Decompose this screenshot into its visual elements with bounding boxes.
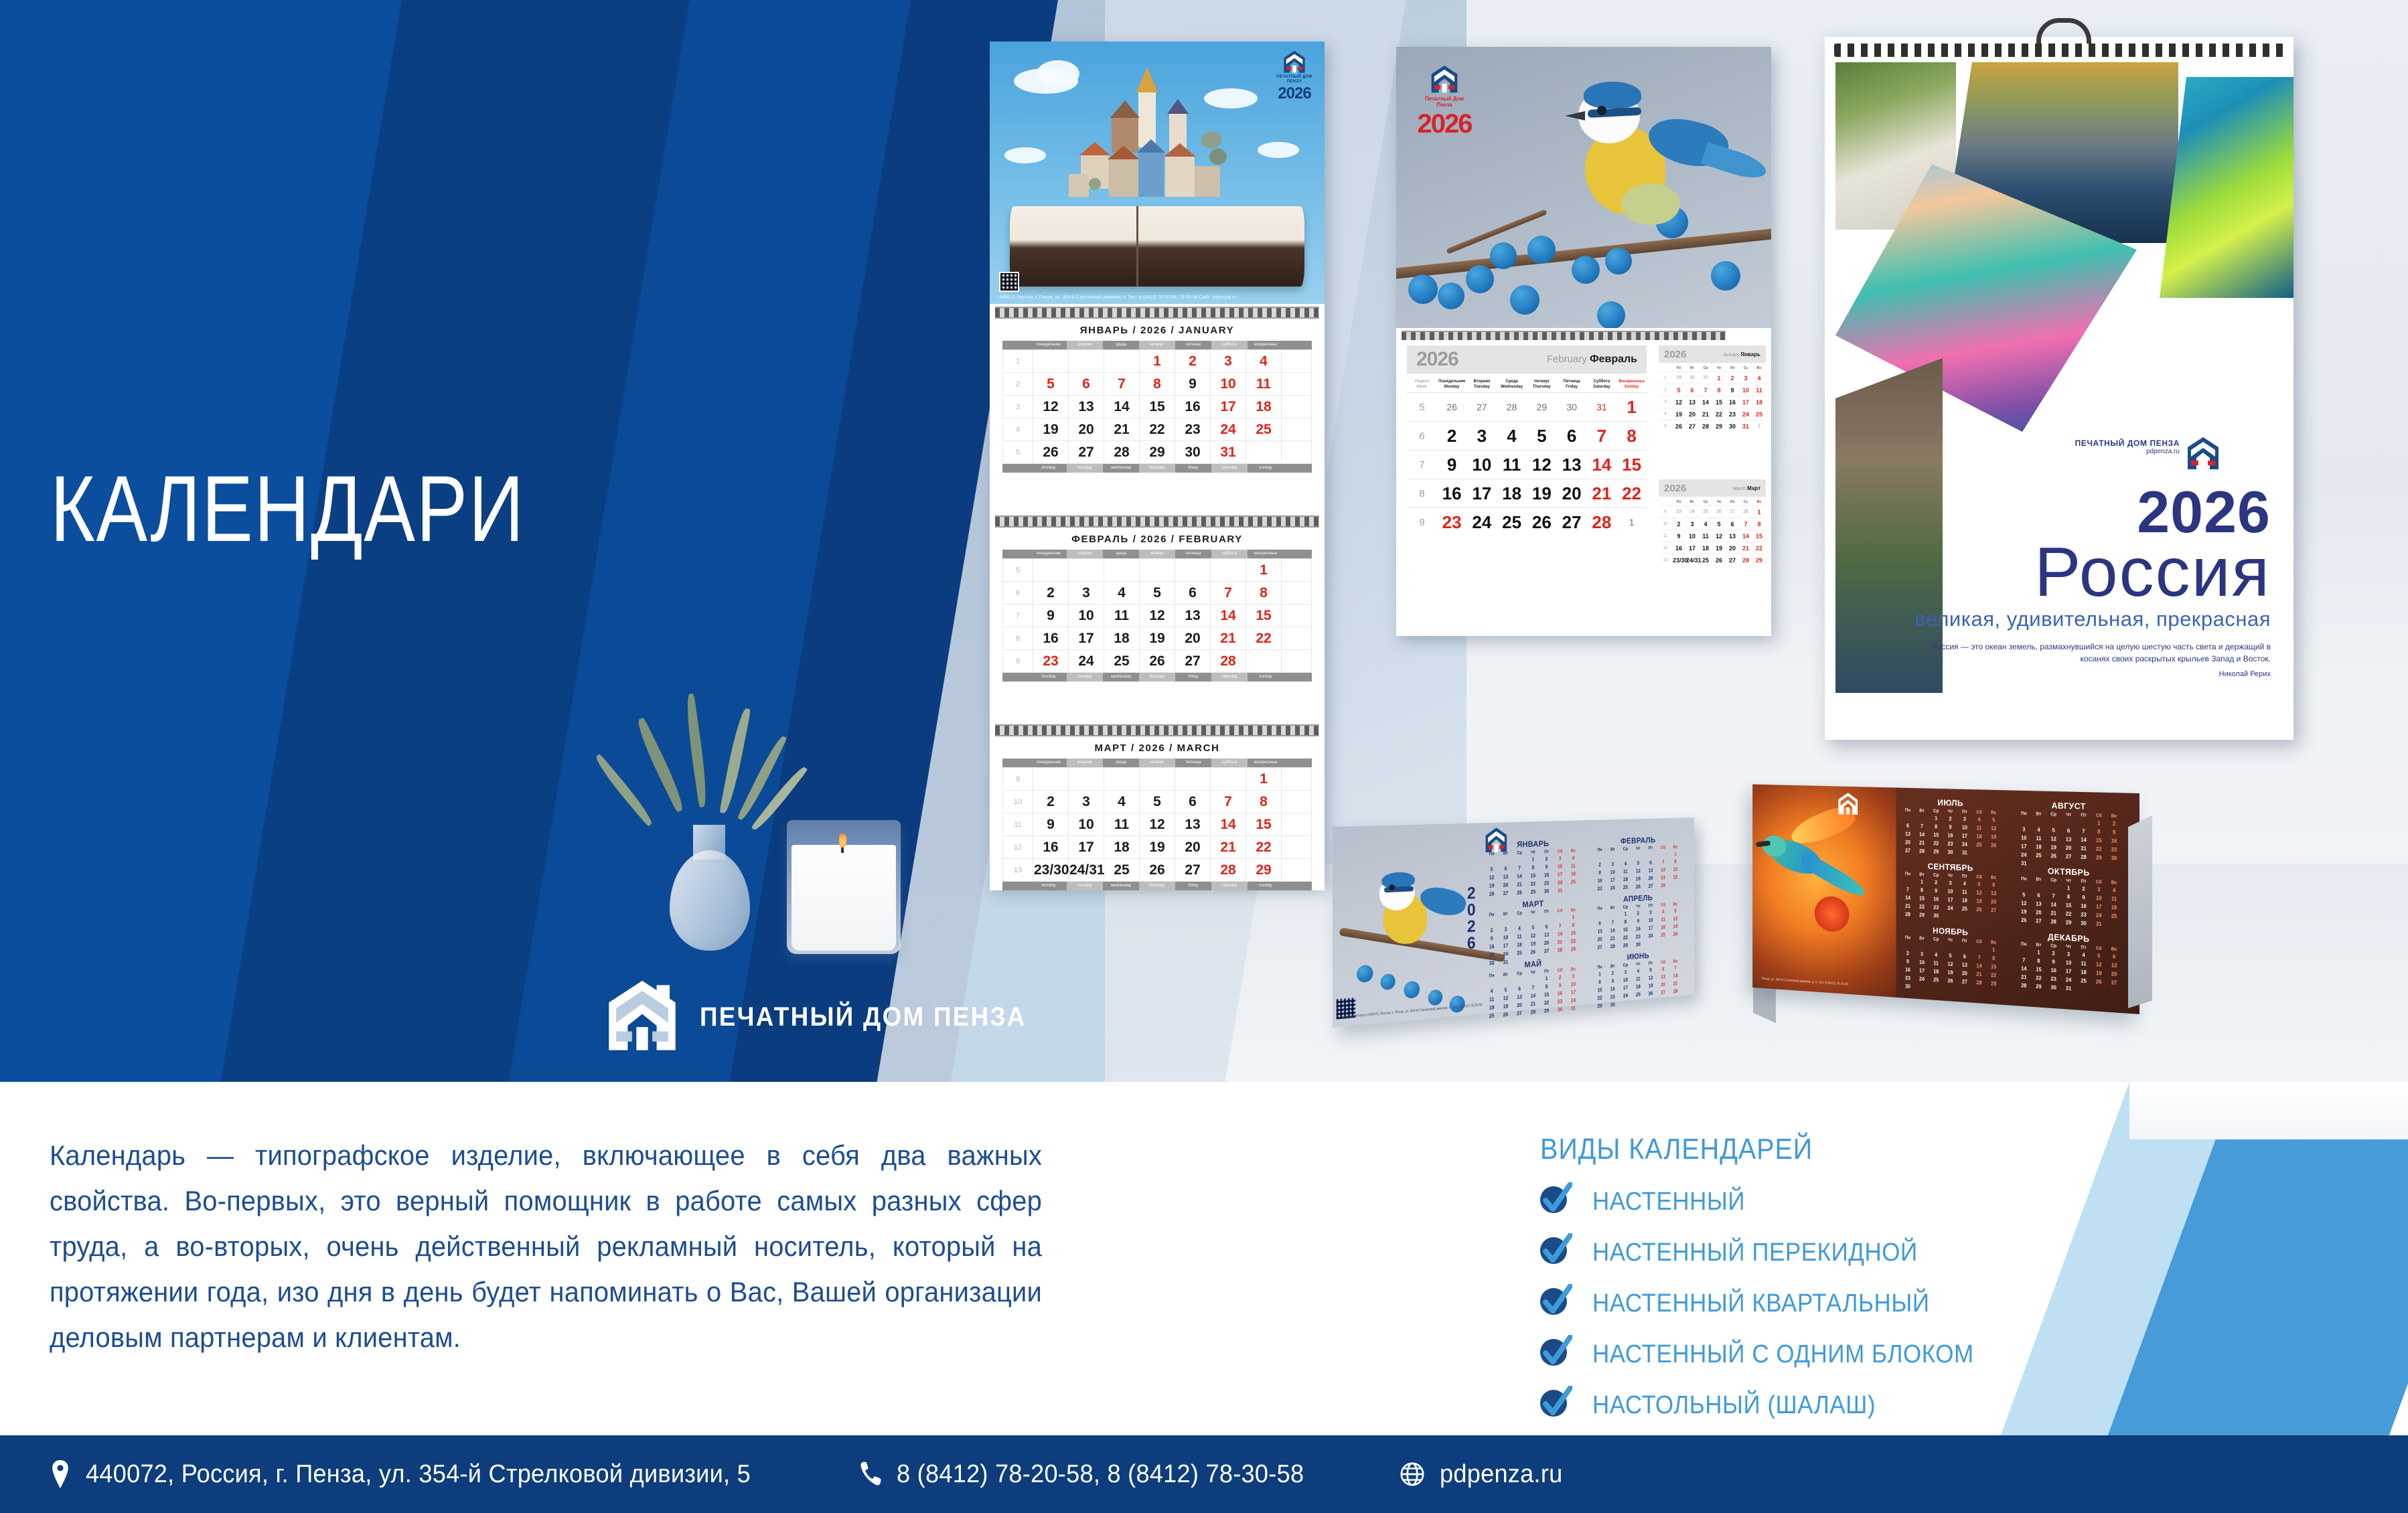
day-cell	[1104, 350, 1140, 373]
company-logo-icon	[1837, 793, 1866, 816]
day-cell: 9	[1033, 605, 1069, 627]
day-cell: 20	[1175, 836, 1211, 859]
day-cell: 27	[1175, 650, 1211, 673]
day-cell: 17	[1943, 895, 1957, 904]
kind-item-label: НАСТЕННЫЙ С ОДНИМ БЛОКОМ	[1592, 1340, 1974, 1369]
day-cell: 11	[1699, 530, 1712, 542]
day-cell: 25	[1619, 883, 1632, 892]
day-cell: 30	[2076, 919, 2091, 928]
table-row: 91	[1003, 768, 1312, 791]
day-cell: 1	[2061, 884, 2076, 893]
day-cell: 20	[1557, 479, 1587, 508]
dow-cell: суббота	[1211, 341, 1248, 349]
day-cell: 8	[1669, 858, 1681, 866]
day-cell: 23	[1929, 903, 1943, 912]
desk-month-table: ПнВтСрЧтПтСбВс12345678910111213141516171…	[1485, 848, 1580, 898]
day-cell: 9	[1672, 530, 1685, 542]
day-cell: 29	[1527, 393, 1557, 422]
russia-brand-site: pdpenza.ru	[2075, 448, 2180, 455]
day-cell: 27	[1499, 889, 1513, 898]
desk-year-digit: 2	[1464, 917, 1479, 935]
day-cell: 10	[1211, 373, 1246, 396]
day-cell: 1	[1915, 878, 1929, 886]
day-cell: 10	[2016, 833, 2031, 842]
day-cell: 1	[1246, 559, 1282, 582]
table-row: 12930311234	[1659, 372, 1766, 384]
mini-month-january: 2026January ЯнварьПоВтСрЧеПяСуВо12930311…	[1659, 345, 1766, 432]
mini-month-name: March Март	[1733, 485, 1760, 491]
desk-month-name: АВГУСТ	[2016, 799, 2121, 812]
day-cell: 2	[1943, 815, 1957, 823]
day-cell: 9	[2107, 827, 2122, 837]
week-number: 7	[1407, 451, 1437, 479]
day-cell: 14	[1915, 830, 1929, 839]
day-cell: 27	[1175, 859, 1211, 882]
day-cell: 22	[1929, 839, 1943, 848]
day-cell: 17	[1069, 627, 1104, 650]
photo-tile-ice-cave	[2160, 77, 2293, 298]
day-cell: 19	[1632, 875, 1645, 884]
day-cell: 28	[1657, 881, 1669, 890]
day-cell: 15	[1616, 451, 1647, 479]
day-cell: 23	[1437, 508, 1467, 537]
day-cell: 9	[1943, 823, 1957, 831]
day-cell: 28	[1699, 420, 1712, 432]
desk-month: АПРЕЛЬПнВтСрЧтПтСбВс12345678910111213141…	[1593, 891, 1681, 951]
mini-month-march: 2026March МартПоВтСрЧеПяСуВо923242526272…	[1659, 479, 1766, 566]
day-cell-tail	[1282, 791, 1312, 813]
day-cell: 28	[1211, 650, 1246, 673]
table-row: 2567891011	[1659, 384, 1766, 396]
table-row: 79101112131415	[1407, 451, 1647, 479]
day-cell: 4	[1619, 860, 1632, 868]
day-cell: 5	[1986, 815, 2001, 824]
book-spine	[1136, 206, 1138, 287]
day-cell	[1033, 768, 1069, 791]
day-cell: 28	[2076, 853, 2091, 862]
quarterly-block-title: ФЕВРАЛЬ / 2026 / FEBRUARY	[990, 528, 1325, 550]
day-cell	[1619, 999, 1632, 1008]
day-cell: 25	[1957, 904, 1971, 914]
week-number: 3	[1659, 396, 1672, 408]
day-cell: 17	[2091, 902, 2107, 912]
dow-header: Вт	[1685, 365, 1699, 372]
footer-phones[interactable]: 8 (8412) 78-20-58, 8 (8412) 78-30-58	[859, 1460, 1325, 1489]
kind-item-4[interactable]: НАСТОЛЬНЫЙ (ШАЛАШ)	[1540, 1390, 2129, 1421]
quarterly-year: 2026	[1274, 84, 1315, 103]
day-cell: 6	[2107, 952, 2122, 961]
slide-root: КАЛЕНДАРИ ПЕЧАТНЫЙ ДОМ ПЕНЗА	[0, 0, 2408, 1513]
dow-cell: четверг	[1139, 759, 1175, 767]
table-row: 312131415161718	[1659, 396, 1766, 408]
single-block-logo: Печатный Дом Пенза 2026	[1412, 66, 1477, 139]
day-cell: 19	[1140, 627, 1175, 650]
day-cell: 2	[1929, 878, 1943, 887]
day-cell	[1986, 914, 2001, 924]
check-mark-icon	[1540, 1186, 1571, 1217]
day-cell: 27	[1557, 508, 1587, 537]
day-cell: 23	[1672, 506, 1685, 518]
day-cell: 15	[1246, 813, 1282, 836]
day-cell: 11	[1752, 384, 1766, 396]
week-number: 5	[1003, 441, 1033, 464]
day-cell: 19	[1986, 833, 2001, 842]
day-cell: 13	[1069, 396, 1104, 418]
dow-bar-en: mondaytuesdaywednesdaythursdayfridaysatu…	[1002, 464, 1312, 473]
day-cell: 16	[1437, 479, 1467, 508]
day-cell: 5	[2046, 826, 2061, 835]
day-cell: 11	[1567, 862, 1580, 870]
day-cell: 7	[1513, 864, 1526, 872]
day-cell: 17	[1211, 396, 1246, 418]
day-cell: 19	[1672, 408, 1685, 420]
russia-brand-block: ПЕЧАТНЫЙ ДОМ ПЕНЗА pdpenza.ru	[2075, 439, 2180, 455]
description-text: Календарь — типографское изделие, включа…	[50, 1133, 1042, 1360]
day-cell: 14	[2046, 900, 2061, 910]
dow-header: Ср	[1699, 365, 1712, 372]
desk-month-table: ПнВтСрЧтПтСбВс12345678910111213141516171…	[2016, 941, 2121, 996]
table-row: 102345678	[1003, 791, 1312, 813]
desk-month-name: ИЮЛЬ	[1901, 797, 2002, 809]
week-number: 13	[1003, 859, 1033, 882]
day-cell: 28	[1901, 910, 1915, 919]
week-number: 6	[1407, 422, 1437, 451]
desk-month: СЕНТЯБРЬПнВтСрЧтПтСбВс123456789101112131…	[1901, 860, 2002, 923]
kind-item-2[interactable]: НАСТЕННЫЙ КВАРТАЛЬНЫЙ	[1540, 1288, 2129, 1319]
day-cell	[1915, 813, 1929, 822]
week-number: 5	[1003, 559, 1033, 582]
day-cell: 28	[1739, 506, 1752, 518]
day-cell: 16	[1593, 876, 1606, 885]
desk-blue-months-grid: ЯНВАРЬПнВтСрЧтПтСбВс12345678910111213141…	[1485, 825, 1689, 1009]
day-cell: 26	[1712, 554, 1726, 566]
quarterly-month-block-march: МАРТ / 2026 / MARCHпонедельниквторниксре…	[990, 736, 1325, 890]
day-cell: 31	[1567, 1004, 1580, 1013]
day-cell: 1	[1929, 814, 1943, 823]
table-row: 52627282930311	[1407, 393, 1647, 422]
day-cell: 6	[2061, 826, 2076, 835]
kind-item-label: НАСТЕННЫЙ ПЕРЕКИДНОЙ	[1592, 1239, 1918, 1267]
day-cell: 31	[1554, 886, 1567, 895]
day-cell: 26	[1437, 393, 1467, 422]
day-cell	[1943, 985, 1957, 994]
dow-cell: tuesday	[1067, 882, 1103, 890]
day-cell: 13	[1499, 872, 1513, 881]
table-row: 62345678	[1407, 422, 1647, 451]
company-logo-icon	[1430, 66, 1458, 94]
day-cell: 17	[1685, 542, 1699, 554]
product-quarterly-wall-calendar: ПЕЧАТНЫЙ ДОМ ПЕНЗА 2026 440072, Россия, …	[990, 42, 1325, 886]
day-cell: 24	[1606, 884, 1619, 892]
day-cell	[1669, 881, 1681, 889]
day-cell: 22	[1616, 479, 1647, 508]
dow-cell: понедельник	[1031, 759, 1067, 767]
day-cell-tail	[1282, 605, 1312, 627]
day-cell: 22	[1526, 880, 1539, 888]
day-cell: 22	[1752, 542, 1766, 554]
day-cell: 31	[1957, 848, 1971, 857]
week-number: 8	[1407, 479, 1437, 508]
dow-cell: понедельник	[1031, 341, 1067, 349]
day-cell: 31	[1587, 393, 1617, 422]
day-cell: 28	[2046, 917, 2061, 927]
day-cell	[1972, 849, 1987, 858]
day-cell	[1211, 768, 1246, 791]
day-cell: 9	[1929, 886, 1943, 895]
day-cell: 14	[1211, 605, 1246, 627]
quarterly-table: 5162345678791011121314158161718192021229…	[1002, 558, 1312, 673]
day-cell: 22	[1712, 408, 1726, 420]
day-cell: 1	[1712, 372, 1726, 384]
day-cell: 7	[1211, 791, 1246, 813]
desk-month: ДЕКАБРЬПнВтСрЧтПтСбВс1234567891011121314…	[2016, 930, 2121, 996]
day-cell: 24	[2016, 850, 2031, 860]
calendar-kinds-section: ВИДЫ КАЛЕНДАРЕЙ НАСТЕННЫЙНАСТЕННЫЙ ПЕРЕК…	[1540, 1133, 2129, 1421]
day-cell: 28	[1513, 888, 1526, 897]
day-cell	[1632, 998, 1645, 1007]
day-cell: 20	[1726, 542, 1739, 554]
day-cell: 12	[1033, 396, 1069, 418]
desk-month-table: ПнВтСрЧтПтСбВс12345678910111213141516171…	[2016, 811, 2121, 872]
day-cell: 11	[1972, 823, 1987, 832]
day-cell: 2	[2107, 819, 2122, 829]
dow-cell: tuesday	[1067, 673, 1103, 682]
kind-item-3[interactable]: НАСТЕННЫЙ С ОДНИМ БЛОКОМ	[1540, 1339, 2129, 1370]
day-cell: 30	[1943, 848, 1957, 856]
day-cell: 8	[1929, 822, 1943, 831]
desk-month-table: ПнВтСрЧтПтСбВс12345678910111213141516171…	[1593, 902, 1681, 952]
day-cell: 13	[1685, 396, 1699, 408]
day-cell: 10	[1069, 813, 1104, 836]
dow-header: По	[1672, 499, 1685, 506]
spiral-binding-2	[995, 515, 1319, 528]
dow-cell: saturday	[1211, 673, 1248, 682]
day-cell: 28	[1915, 847, 1929, 856]
day-cell: 19	[1140, 836, 1175, 859]
day-cell: 24	[1554, 878, 1567, 887]
day-cell: 6	[1175, 582, 1211, 605]
quarterly-logo: ПЕЧАТНЫЙ ДОМ ПЕНЗА 2026	[1274, 51, 1315, 103]
day-cell: 22	[1669, 873, 1681, 881]
day-cell: 7	[1739, 518, 1752, 530]
day-cell: 8	[1915, 886, 1929, 894]
day-cell: 7	[1901, 885, 1915, 894]
quarterly-logo-line1: ПЕЧАТНЫЙ ДОМ	[1274, 75, 1315, 80]
footer-website[interactable]: pdpenza.ru	[1400, 1460, 1569, 1489]
day-cell: 30	[2046, 983, 2061, 992]
day-cell: 15	[2091, 836, 2107, 846]
desk-brown-tent-side	[2128, 815, 2152, 1008]
day-cell: 28	[1211, 859, 1246, 882]
product-single-block-wall-calendar: Печатный Дом Пенза 2026 440072, Россия, …	[1396, 47, 1771, 636]
day-cell: 3	[1069, 582, 1104, 605]
day-cell: 8	[1140, 373, 1175, 396]
dow-bar-ru: понедельниквторниксредачетвергпятницасуб…	[1002, 759, 1312, 767]
footer-address: 440072, Россия, г. Пенза, ул. 354-й Стре…	[50, 1460, 785, 1489]
table-row: 5262728293031	[1003, 441, 1312, 464]
day-cell: 2	[1033, 791, 1069, 813]
day-cell: 23	[1540, 879, 1554, 888]
table-row: 119101112131415	[1659, 530, 1766, 542]
desk-brown-hummingbird-photo	[1752, 785, 1896, 998]
week-number: 3	[1003, 396, 1033, 418]
day-cell	[2107, 921, 2122, 930]
kind-item-label: НАСТОЛЬНЫЙ (ШАЛАШ)	[1592, 1391, 1876, 1420]
day-cell: 5	[2016, 890, 2031, 900]
day-cell: 2	[1540, 855, 1554, 864]
day-cell-tail	[1282, 559, 1312, 582]
day-cell: 5	[1632, 859, 1645, 867]
day-cell: 12	[1712, 530, 1726, 542]
day-cell: 18	[2031, 842, 2046, 852]
day-cell	[1657, 939, 1669, 947]
day-cell: 27	[1467, 393, 1497, 422]
dow-cell: вторник	[1067, 759, 1103, 767]
day-cell: 29	[2091, 853, 2107, 862]
day-cell: 3	[2016, 825, 2031, 833]
day-cell: 3	[1211, 350, 1246, 373]
day-cell: 21	[1739, 542, 1752, 554]
day-cell	[1485, 857, 1499, 866]
dow-cell: пятница	[1175, 759, 1211, 767]
day-cell: 11	[2031, 834, 2046, 843]
day-cell: 21	[1699, 408, 1712, 420]
day-cell: 25	[2107, 912, 2122, 921]
day-cell: 8	[2061, 892, 2076, 902]
day-cell: 5	[1140, 582, 1175, 605]
day-cell: 25	[1752, 408, 1766, 420]
day-cell: 18	[1104, 627, 1140, 650]
table-row: 62345678	[1003, 582, 1312, 605]
day-cell: 13	[1175, 605, 1211, 627]
day-cell: 9	[1593, 868, 1606, 877]
table-row: 92324252627281	[1659, 506, 1766, 518]
day-cell	[1669, 938, 1681, 947]
dow-cell: вторник	[1067, 341, 1103, 349]
day-cell: 19	[1712, 542, 1726, 554]
day-cell	[1619, 852, 1632, 860]
product-russia-wall-calendar: ПЕЧАТНЫЙ ДОМ ПЕНЗА pdpenza.ru 2026 Росси…	[1825, 37, 2293, 740]
day-cell: 1	[1752, 506, 1766, 518]
check-mark-icon	[1540, 1237, 1571, 1268]
day-cell-tail	[1282, 627, 1312, 650]
day-cell: 21	[1901, 902, 1915, 910]
day-cell: 21	[1915, 838, 1929, 847]
day-cell: 29	[2061, 918, 2076, 927]
quarterly-month-block-february: ФЕВРАЛЬ / 2026 / FEBRUARYпонедельниквтор…	[990, 528, 1325, 682]
day-cell: 19	[1485, 882, 1499, 890]
day-cell: 26	[1499, 1010, 1513, 1020]
day-cell: 10	[1739, 384, 1752, 396]
day-cell: 8	[1712, 384, 1726, 396]
week-number: 5	[1407, 393, 1437, 422]
dow-cell: wednesday	[1103, 464, 1139, 473]
dow-cell: среда	[1103, 759, 1139, 767]
day-cell: 7	[1104, 373, 1140, 396]
table-row: 1216171819202122	[1659, 542, 1766, 554]
day-cell: 27	[1069, 441, 1104, 464]
week-number: 9	[1659, 506, 1672, 518]
day-cell: 5	[1140, 791, 1175, 813]
desk-month-table: ПнВтСрЧтПтСбВс12345678910111213141516171…	[1901, 807, 2002, 858]
phone-icon	[859, 1461, 882, 1488]
day-cell	[1567, 886, 1580, 894]
dow-cell: wednesday	[1103, 673, 1139, 682]
day-cell: 14	[1739, 530, 1752, 542]
desk-month-table: ПнВтСрЧтПтСбВс12345678910111213141516171…	[1593, 844, 1681, 892]
day-cell: 3	[1957, 815, 1971, 823]
day-cell: 3	[1685, 518, 1699, 530]
footer-address-text: 440072, Россия, г. Пенза, ул. 354-й Стре…	[86, 1460, 751, 1489]
table-row: 1323/3024/312526272829	[1003, 859, 1312, 882]
day-cell: 20	[1645, 874, 1657, 883]
kind-item-1[interactable]: НАСТЕННЫЙ ПЕРЕКИДНОЙ	[1540, 1237, 2129, 1268]
day-cell: 4	[1246, 350, 1282, 373]
kinds-heading: ВИДЫ КАЛЕНДАРЕЙ	[1540, 1133, 2071, 1166]
dow-header: Че	[1712, 365, 1726, 372]
day-cell: 28	[1587, 508, 1617, 537]
quarterly-imprint: 440072, Россия, г. Пенза, ул. 354-й Стре…	[999, 295, 1236, 300]
day-cell: 20	[1901, 838, 1915, 847]
day-cell: 8	[1526, 864, 1539, 872]
day-cell: 18	[1752, 396, 1766, 408]
day-cell: 23	[2076, 910, 2091, 919]
day-cell: 25	[1246, 418, 1282, 441]
table-row: 2567891011	[1003, 373, 1312, 396]
day-cell: 26	[1140, 650, 1175, 673]
desk-month-table: ПнВтСрЧтПтСбВс12345678910111213141516171…	[1901, 871, 2002, 923]
day-cell: 23	[1943, 840, 1957, 848]
day-cell: 1	[1752, 420, 1766, 432]
company-logo-icon	[2186, 437, 2220, 471]
day-cell	[1033, 559, 1069, 582]
day-cell	[2031, 817, 2046, 825]
page-title: КАЛЕНДАРИ	[50, 462, 525, 556]
day-cell: 16	[2107, 836, 2122, 846]
dow-cell: friday	[1175, 882, 1211, 890]
dow-cell: суббота	[1211, 759, 1248, 767]
day-cell: 8	[1752, 518, 1766, 530]
day-cell: 19	[1972, 896, 1987, 906]
day-cell: 21	[1211, 836, 1246, 859]
desk-blue-bird-photo	[1351, 862, 1478, 986]
day-cell: 2	[2076, 884, 2091, 894]
day-cell: 28	[1739, 554, 1752, 566]
day-cell: 20	[1175, 627, 1211, 650]
day-cell: 26	[1712, 506, 1726, 518]
day-cell: 25	[1104, 859, 1140, 882]
week-number: 9	[1003, 650, 1033, 673]
table-row: 419202122232425	[1003, 418, 1312, 441]
day-cell: 19	[2046, 843, 2061, 852]
dow-cell: четверг	[1139, 341, 1175, 349]
day-cell: 29	[1540, 1006, 1554, 1016]
day-cell: 18	[1957, 896, 1971, 905]
day-cell	[1140, 768, 1175, 791]
quarterly-table: 9110234567811910111213141512161718192021…	[1002, 767, 1312, 882]
day-cell: 3	[1467, 422, 1497, 451]
kind-item-0[interactable]: НАСТЕННЫЙ	[1540, 1186, 2129, 1217]
day-cell: 13	[1175, 813, 1211, 836]
dow-header: Ср	[1699, 499, 1712, 506]
day-cell: 15	[1140, 396, 1175, 418]
day-cell: 14	[1901, 893, 1915, 902]
open-book-illustration	[1010, 206, 1304, 287]
dow-cell: sunday	[1248, 882, 1284, 890]
dow-header: ВторникTuesday	[1467, 379, 1497, 393]
day-cell: 25	[1567, 878, 1580, 886]
day-cell: 9	[2076, 893, 2091, 902]
